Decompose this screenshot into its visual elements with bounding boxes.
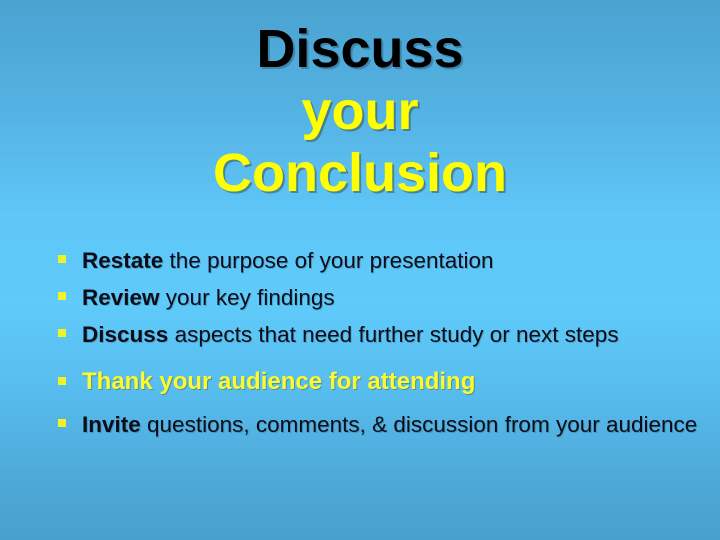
title-line-2: your: [0, 80, 720, 142]
list-item-lead: Thank your audience for attending: [82, 368, 475, 395]
square-bullet-icon: [58, 329, 66, 337]
square-bullet-icon: [58, 419, 66, 427]
title-line-3: Conclusion: [0, 142, 720, 204]
list-item-lead: Restate: [82, 248, 163, 273]
title-line-1: Discuss: [0, 18, 720, 80]
list-item-rest: aspects that need further study or next …: [168, 322, 618, 347]
square-bullet-icon: [58, 255, 66, 263]
list-item-rest: questions, comments, & discussion from y…: [141, 412, 698, 437]
list-item-rest: your key findings: [160, 285, 335, 310]
square-bullet-icon: [58, 292, 66, 300]
list-item-highlighted: Thank your audience for attending: [42, 365, 702, 398]
list-item-rest: the purpose of your presentation: [163, 248, 493, 273]
presentation-slide: Discuss your Conclusion Restate the purp…: [0, 0, 720, 540]
bullet-list: Restate the purpose of your presentation…: [42, 244, 702, 445]
square-bullet-icon: [58, 377, 66, 385]
list-item: Restate the purpose of your presentation: [42, 244, 702, 277]
list-item-lead: Discuss: [82, 322, 168, 347]
list-item: Review your key findings: [42, 281, 702, 314]
list-item: Discuss aspects that need further study …: [42, 318, 702, 351]
slide-title: Discuss your Conclusion: [0, 18, 720, 204]
list-item: Invite questions, comments, & discussion…: [42, 408, 702, 441]
list-item-lead: Invite: [82, 412, 141, 437]
list-item-lead: Review: [82, 285, 160, 310]
